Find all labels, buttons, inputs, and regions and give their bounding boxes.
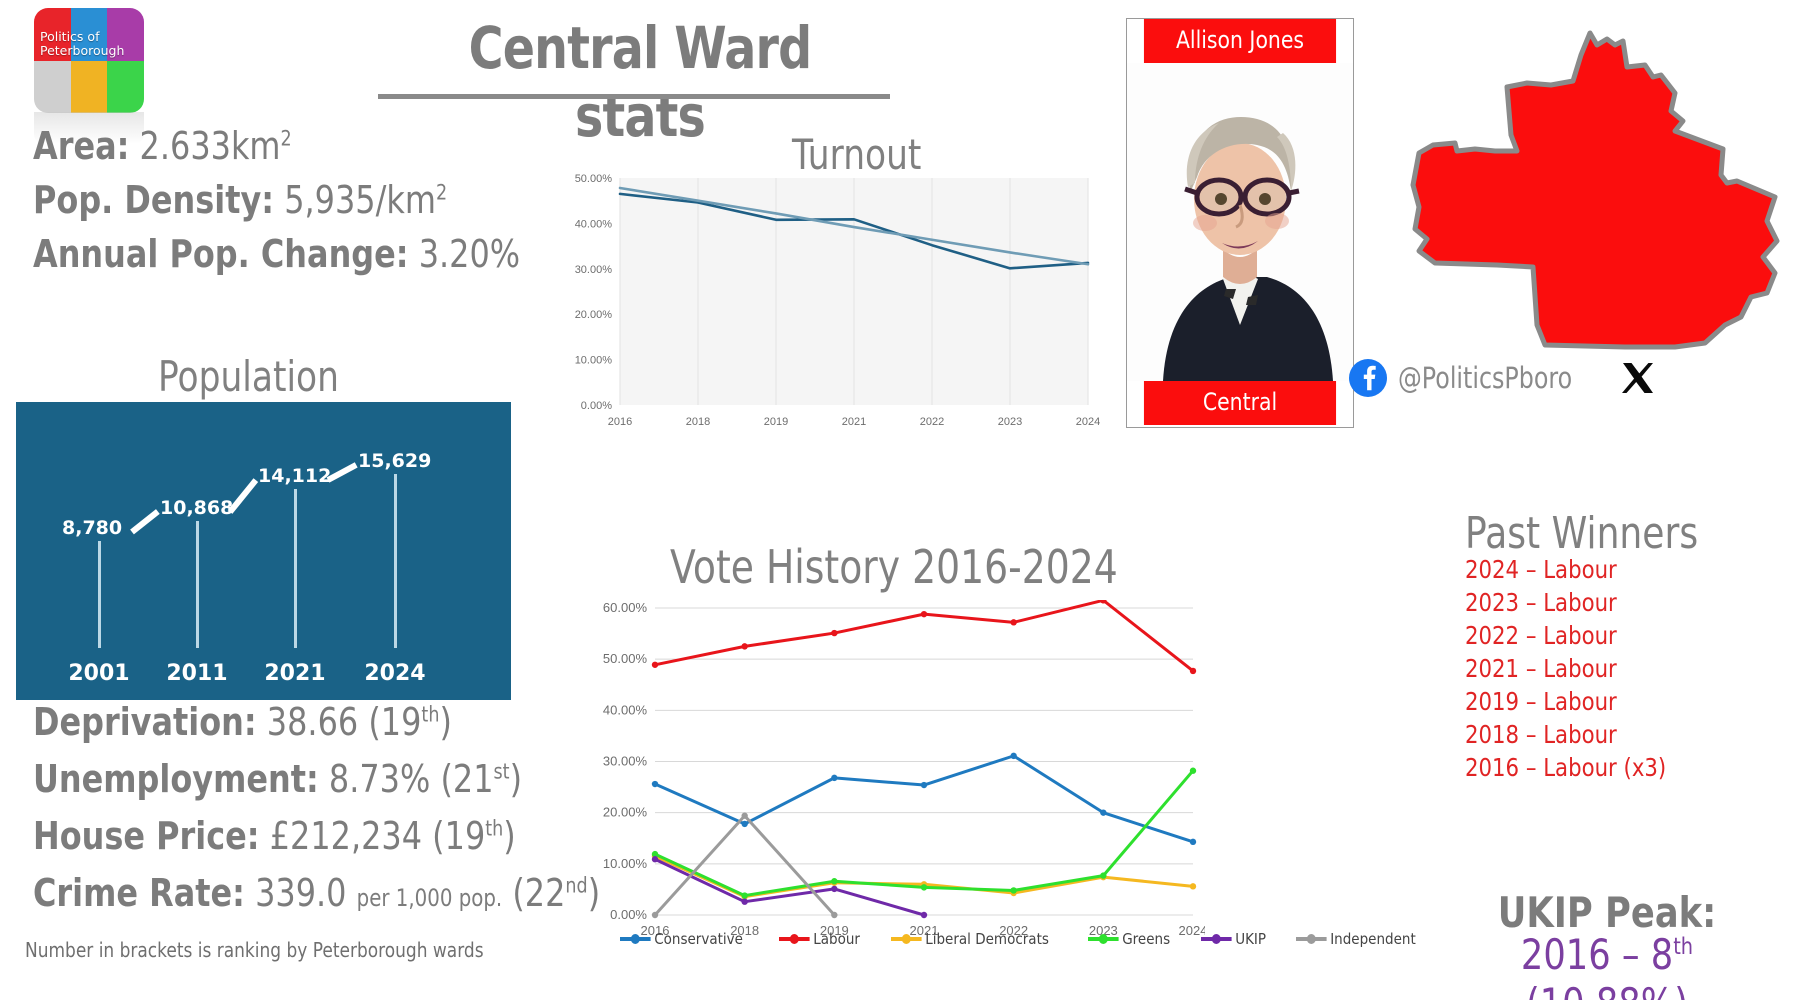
- turnout-x-tick: 2023: [998, 416, 1022, 428]
- vote_history-svg: 0.00%10.00%20.00%30.00%40.00%50.00%60.00…: [585, 600, 1205, 945]
- ukip-peak-share: (10.88%): [1526, 979, 1688, 1000]
- stat-house-price-rank: (19: [432, 814, 485, 858]
- legend-label: Independent: [1330, 930, 1416, 948]
- stat-annual-pop-change-label: Annual Pop. Change:: [33, 232, 409, 276]
- legend-label: Labour: [813, 930, 860, 948]
- stat-house-price-value: £212,234: [270, 814, 422, 858]
- turnout-y-tick: 10.00%: [575, 355, 613, 367]
- vote_history-y-tick: 0.00%: [610, 907, 647, 922]
- vote_history-data-point: [652, 662, 658, 668]
- stat-unemployment-rank: (21: [440, 757, 493, 801]
- population-connector-line: [228, 478, 259, 514]
- turnout-chart: 0.00%10.00%20.00%30.00%40.00%50.00%20162…: [560, 170, 1100, 435]
- stat-crime-rate-unit: per 1,000 pop.: [357, 884, 503, 912]
- vote_history-data-point: [1010, 887, 1016, 893]
- vote-history-legend: ConservativeLabourLiberal DemocratsGreen…: [620, 930, 1429, 948]
- vote_history-data-point: [921, 884, 927, 890]
- legend-item[interactable]: Labour: [779, 930, 860, 948]
- legend-item[interactable]: UKIP: [1201, 930, 1266, 948]
- stat-crime-rate-rank: (22: [512, 871, 565, 915]
- population-year-label: 2001: [54, 661, 144, 686]
- stat-annual-pop-change-value: 3.20%: [419, 232, 520, 276]
- vote_history-data-point: [652, 781, 658, 787]
- vote_history-data-point: [1190, 883, 1196, 889]
- vote_history-data-point: [741, 813, 747, 819]
- stat-unemployment-rank-close: ): [510, 757, 522, 801]
- councillor-ward: Central: [1144, 381, 1336, 425]
- vote-history-chart: 0.00%10.00%20.00%30.00%40.00%50.00%60.00…: [585, 600, 1205, 945]
- vote_history-data-point: [831, 775, 837, 781]
- vote_history-y-tick: 60.00%: [603, 600, 648, 615]
- stat-unemployment-label: Unemployment:: [33, 757, 319, 801]
- councillor-photo: [1127, 63, 1353, 381]
- population-bar: [98, 541, 101, 648]
- vote_history-data-point: [831, 878, 837, 884]
- ukip-peak-rank: 8: [1651, 930, 1673, 979]
- legend-item[interactable]: Conservative: [620, 930, 743, 948]
- turnout-y-tick: 50.00%: [575, 173, 613, 185]
- vote_history-data-point: [1010, 753, 1016, 759]
- vote_history-data-point: [831, 912, 837, 918]
- vote_history-data-point: [1100, 809, 1106, 815]
- legend-item[interactable]: Greens: [1088, 930, 1170, 948]
- legend-label: UKIP: [1235, 930, 1266, 948]
- turnout-y-tick: 40.00%: [575, 218, 613, 230]
- turnout-x-tick: 2019: [764, 416, 788, 428]
- turnout-y-tick: 30.00%: [575, 264, 613, 276]
- vote_history-data-point: [741, 643, 747, 649]
- councillor-card: Allison Jones: [1126, 18, 1354, 428]
- population-value-label: 15,629: [358, 450, 431, 472]
- past-winner-item: 2023 – Labour: [1465, 588, 1617, 617]
- vote_history-y-tick: 10.00%: [603, 856, 648, 871]
- vote_history-series-line: [655, 600, 1193, 671]
- ward-map-shape: [1375, 25, 1794, 365]
- ukip-peak-dash: –: [1622, 930, 1640, 979]
- past-winners-heading: Past Winners: [1465, 508, 1698, 559]
- stat-pop-density-label: Pop. Density:: [33, 178, 274, 222]
- legend-label: Liberal Democrats: [925, 930, 1049, 948]
- stat-crime-rate-label: Crime Rate:: [33, 871, 245, 915]
- population-bar: [394, 474, 397, 648]
- stat-deprivation: Deprivation: 38.66 (19th): [33, 700, 452, 744]
- vote_history-data-point: [831, 630, 837, 636]
- stat-deprivation-rank-close: ): [439, 700, 451, 744]
- vote_history-data-point: [741, 898, 747, 904]
- turnout-x-tick: 2024: [1076, 416, 1100, 428]
- stat-annual-pop-change: Annual Pop. Change: 3.20%: [33, 232, 520, 276]
- title-underline: [378, 94, 890, 99]
- stat-area-value: 2.633km: [140, 124, 281, 168]
- social-handle[interactable]: @PoliticsPboro: [1398, 361, 1572, 395]
- vote_history-y-tick: 50.00%: [603, 651, 648, 666]
- ranking-footnote: Number in brackets is ranking by Peterbo…: [25, 938, 484, 962]
- vote_history-data-point: [1190, 768, 1196, 774]
- ukip-peak-rank-sup: th: [1673, 934, 1693, 960]
- logo-tile-green: [107, 61, 144, 114]
- legend-swatch: [1088, 937, 1119, 941]
- population-year-label: 2011: [152, 661, 242, 686]
- vote_history-data-point: [1100, 872, 1106, 878]
- stat-deprivation-label: Deprivation:: [33, 700, 257, 744]
- stat-pop-density-sup: 2: [436, 180, 447, 204]
- legend-swatch: [891, 937, 922, 941]
- stat-area-sup: 2: [281, 126, 292, 150]
- stat-house-price-rank-close: ): [503, 814, 515, 858]
- past-winner-item: 2016 – Labour (x3): [1465, 753, 1666, 782]
- legend-swatch: [779, 937, 810, 941]
- councillor-name: Allison Jones: [1144, 19, 1336, 63]
- population-bar: [294, 489, 297, 648]
- vote_history-data-point: [652, 856, 658, 862]
- logo-line-2: Peterborough: [40, 44, 140, 58]
- vote_history-data-point: [741, 821, 747, 827]
- stat-unemployment-rank-sup: st: [494, 759, 510, 783]
- logo-text: Politics of Peterborough: [40, 30, 140, 58]
- logo-tile-yellow: [71, 61, 108, 114]
- ukip-peak-year: 2016: [1521, 930, 1611, 979]
- stat-area: Area: 2.633km2: [33, 124, 292, 168]
- stat-area-label: Area:: [33, 124, 129, 168]
- page-title: Central Ward stats: [427, 14, 853, 150]
- turnout-x-tick: 2016: [608, 416, 632, 428]
- population-connector-line: [130, 509, 160, 534]
- stat-house-price-label: House Price:: [33, 814, 260, 858]
- stat-pop-density-value: 5,935/km: [284, 178, 436, 222]
- vote_history-data-point: [741, 892, 747, 898]
- population-bar: [196, 521, 199, 648]
- stat-crime-rate: Crime Rate: 339.0 per 1,000 pop. (22nd): [33, 871, 600, 915]
- stat-crime-rate-rank-close: ): [588, 871, 600, 915]
- social-row: @PoliticsPboro: [1348, 358, 1656, 398]
- past-winner-item: 2021 – Labour: [1465, 654, 1617, 683]
- infographic-page: Politics of Peterborough Central Ward st…: [0, 0, 1794, 1000]
- vote-history-chart-heading: Vote History 2016-2024: [670, 540, 1118, 594]
- stat-deprivation-rank: (19: [368, 700, 421, 744]
- population-value-label: 8,780: [62, 517, 122, 539]
- vote_history-data-point: [921, 912, 927, 918]
- ukip-peak-value: 2016 – 8th (10.88%): [1450, 930, 1764, 1000]
- population-year-label: 2024: [350, 661, 440, 686]
- legend-label: Conservative: [654, 930, 743, 948]
- politics-of-peterborough-logo: [34, 8, 144, 113]
- vote_history-data-point: [1010, 619, 1016, 625]
- stat-deprivation-value: 38.66: [267, 700, 358, 744]
- vote_history-y-tick: 30.00%: [603, 754, 648, 769]
- stat-crime-rate-rank-sup: nd: [565, 873, 587, 897]
- past-winner-item: 2019 – Labour: [1465, 687, 1617, 716]
- past-winner-item: 2018 – Labour: [1465, 720, 1617, 749]
- turnout-svg: 0.00%10.00%20.00%30.00%40.00%50.00%20162…: [560, 170, 1100, 435]
- stat-deprivation-rank-sup: th: [421, 702, 439, 726]
- legend-item[interactable]: Liberal Democrats: [891, 930, 1049, 948]
- stat-unemployment-value: 8.73%: [329, 757, 430, 801]
- vote_history-y-tick: 40.00%: [603, 702, 648, 717]
- stat-pop-density: Pop. Density: 5,935/km2: [33, 178, 447, 222]
- stat-house-price-rank-sup: th: [485, 816, 503, 840]
- population-year-label: 2021: [250, 661, 340, 686]
- legend-label: Greens: [1122, 930, 1170, 948]
- vote_history-data-point: [1190, 668, 1196, 674]
- population-chart-heading: Population: [158, 352, 339, 401]
- turnout-x-tick: 2021: [842, 416, 866, 428]
- population-value-label: 14,112: [258, 465, 331, 487]
- facebook-icon[interactable]: [1348, 358, 1388, 398]
- legend-swatch: [1296, 937, 1327, 941]
- past-winner-item: 2022 – Labour: [1465, 621, 1617, 650]
- turnout-y-tick: 0.00%: [581, 400, 612, 412]
- turnout-x-tick: 2022: [920, 416, 944, 428]
- x-twitter-icon[interactable]: [1620, 360, 1656, 396]
- population-chart: 8,780200110,868201114,112202115,6292024: [16, 402, 511, 700]
- stat-crime-rate-value: 339.0: [255, 871, 346, 915]
- vote_history-data-point: [831, 886, 837, 892]
- turnout-x-tick: 2018: [686, 416, 710, 428]
- stat-house-price: House Price: £212,234 (19th): [33, 814, 516, 858]
- logo-tile-grey: [34, 61, 71, 114]
- legend-item[interactable]: Independent: [1296, 930, 1416, 948]
- vote_history-data-point: [921, 782, 927, 788]
- legend-swatch: [1201, 937, 1232, 941]
- vote_history-y-tick: 20.00%: [603, 805, 648, 820]
- legend-swatch: [620, 937, 651, 941]
- vote_history-data-point: [1190, 839, 1196, 845]
- logo-line-1: Politics of: [40, 30, 140, 44]
- turnout-y-tick: 20.00%: [575, 309, 613, 321]
- population-value-label: 10,868: [160, 497, 233, 519]
- councillor-portrait-illustration: [1127, 63, 1353, 381]
- vote_history-data-point: [921, 611, 927, 617]
- vote_history-data-point: [652, 912, 658, 918]
- stat-unemployment: Unemployment: 8.73% (21st): [33, 757, 522, 801]
- vote_history-series-line: [655, 756, 1193, 842]
- past-winner-item: 2024 – Labour: [1465, 555, 1617, 584]
